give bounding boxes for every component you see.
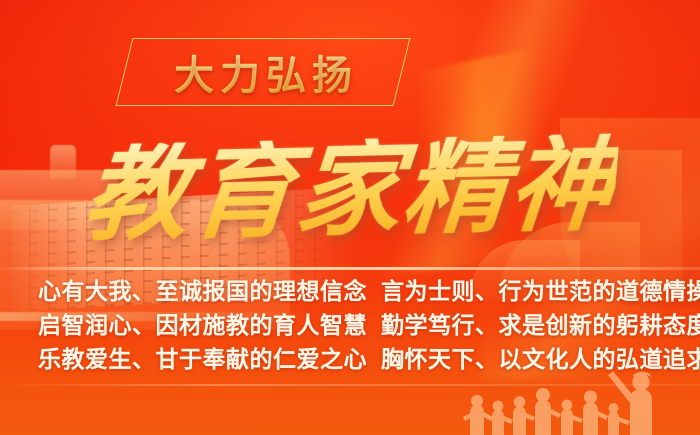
education-spirit-banner: 大力弘扬 教育家精神 心有大我、至诚报国的理想信念 言为士则、行为世范的道德情操… [0, 0, 700, 435]
people-silhouette-decor [430, 369, 690, 435]
eyebrow-label: 大力弘扬 [124, 38, 402, 106]
page-title: 教育家精神 [80, 133, 620, 248]
slogan-left-2: 启智润心、因材施教的育人智慧 [38, 310, 367, 342]
highlight-divider-upper [0, 267, 700, 270]
eyebrow-block: 大力弘扬 [124, 38, 402, 106]
slogan-left-3: 乐教爱生、甘于奉献的仁爱之心 [38, 344, 367, 376]
slogan-right-3: 胸怀天下、以文化人的弘道追求 [381, 344, 700, 376]
headline-block: 教育家精神 [0, 126, 700, 256]
slogan-right-1: 言为士则、行为世范的道德情操 [381, 276, 700, 308]
highlight-divider-lower [0, 384, 700, 386]
slogan-left-1: 心有大我、至诚报国的理想信念 [38, 276, 367, 308]
slogan-right-2: 勤学笃行、求是创新的躬耕态度 [381, 310, 700, 342]
slogan-grid: 心有大我、至诚报国的理想信念 言为士则、行为世范的道德情操 启智润心、因材施教的… [0, 276, 700, 376]
